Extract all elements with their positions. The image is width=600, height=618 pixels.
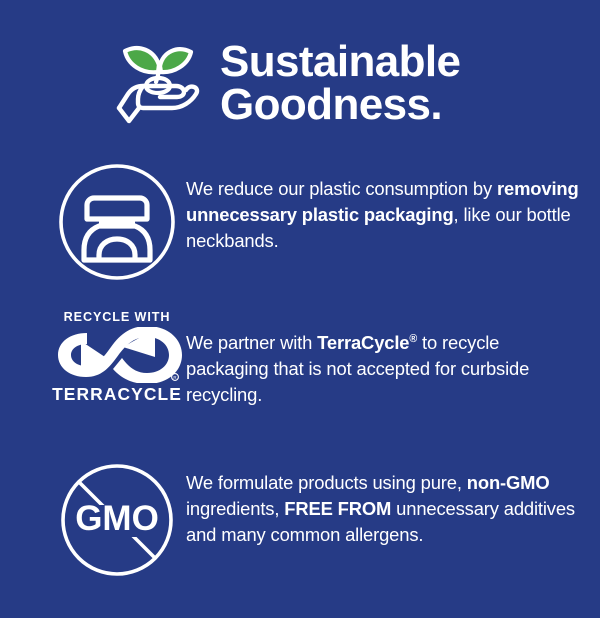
sustainable-goodness-graphic: Sustainable Goodness. We reduce o (0, 0, 600, 600)
terracycle-bottom-label: TERRACYCLE (52, 384, 182, 405)
page-title: Sustainable Goodness. (220, 40, 460, 126)
no-gmo-label: GMO (75, 499, 159, 538)
text-segment-bold: non-GMO (467, 472, 550, 493)
list-item-text: We partner with TerraCycle® to recycle p… (186, 310, 600, 408)
terracycle-recycle-badge-icon: RECYCLE WITH R TERRACYCLE (48, 310, 186, 405)
list-item-text: We reduce our plastic consumption by rem… (186, 160, 600, 254)
list-item: We reduce our plastic consumption by rem… (0, 160, 600, 290)
svg-text:R: R (173, 375, 176, 380)
registered-mark: ® (409, 333, 417, 345)
plastic-bottle-no-neckband-icon (55, 160, 179, 284)
row-icon-container: RECYCLE WITH R TERRACYCLE (48, 310, 186, 405)
text-segment-bold: FREE FROM (284, 498, 391, 519)
text-segment: We formulate products using pure, (186, 472, 467, 493)
infinity-recycle-loop-icon: R (51, 327, 183, 383)
list-item: GMO We formulate products using pure, no… (0, 458, 600, 598)
benefits-list: We reduce our plastic consumption by rem… (0, 160, 600, 618)
text-segment: ingredients, (186, 498, 284, 519)
no-gmo-icon: GMO (55, 458, 179, 582)
header: Sustainable Goodness. (0, 22, 600, 142)
text-segment: We reduce our plastic consumption by (186, 178, 497, 199)
list-item-text: We formulate products using pure, non-GM… (186, 458, 600, 548)
text-segment-bold: TerraCycle (317, 332, 409, 353)
hand-holding-sprout-icon (112, 32, 212, 132)
terracycle-top-label: RECYCLE WITH (64, 310, 171, 324)
row-icon-container: GMO (48, 458, 186, 582)
text-segment: We partner with (186, 332, 317, 353)
list-item: RECYCLE WITH R TERRACYCLE (0, 310, 600, 438)
row-icon-container (48, 160, 186, 284)
